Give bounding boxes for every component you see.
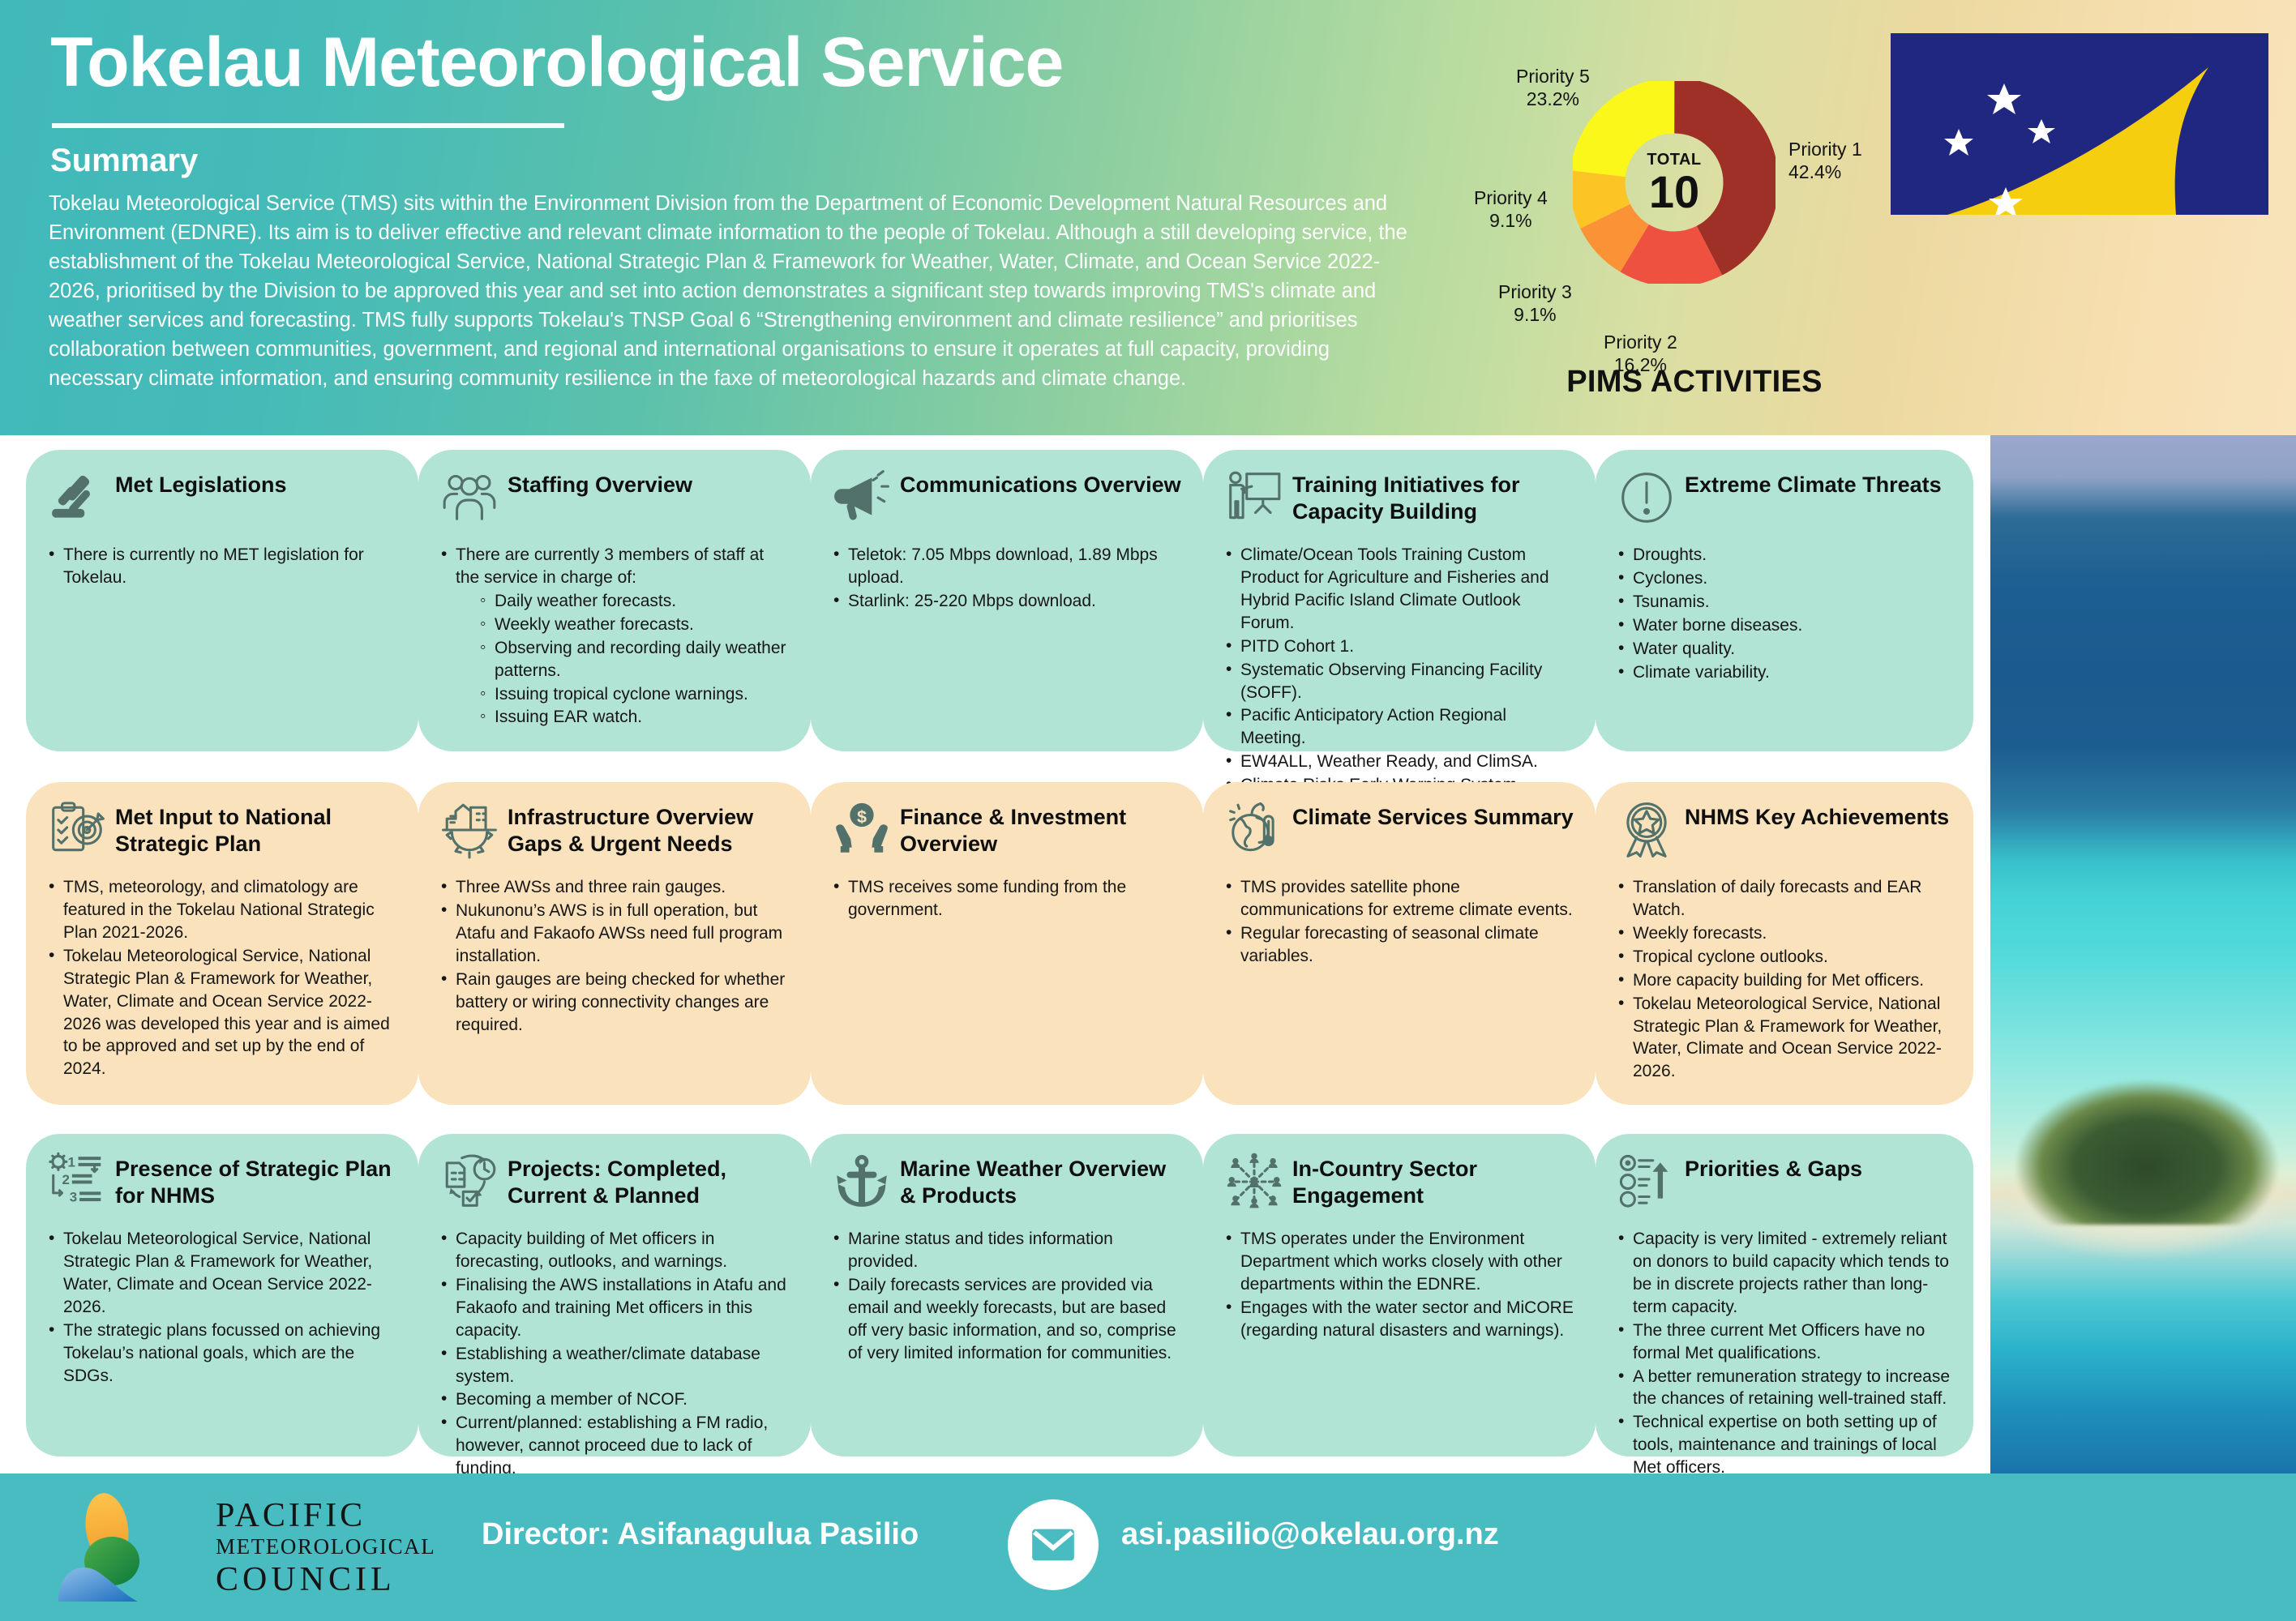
sub-bullet-item: Observing and recording daily weather pa…	[477, 637, 791, 682]
card-body: There are currently 3 members of staff a…	[438, 544, 791, 729]
network-people-icon	[1224, 1152, 1284, 1212]
donut-label-priority-5: Priority 5 23.2%	[1516, 65, 1590, 110]
bullet-item: Weekly forecasts.	[1615, 922, 1954, 945]
bullet-item: Teletok: 7.05 Mbps download, 1.89 Mbps u…	[830, 544, 1184, 589]
gavel-icon	[47, 468, 107, 528]
infographic-page: Tokelau Meteorological Service Summary T…	[0, 0, 2296, 1621]
card-title: Staffing Overview	[508, 468, 791, 498]
card-title: Marine Weather Overview & Products	[900, 1152, 1184, 1209]
donut-label-priority-4: Priority 4 9.1%	[1474, 186, 1548, 232]
bullet-item: Cyclones.	[1615, 567, 1954, 590]
card-communications-overview: Communications OverviewTeletok: 7.05 Mbp…	[811, 450, 1203, 751]
card-header: 1 2 3 Presence of Strategic Plan for NHM…	[45, 1152, 399, 1215]
bullet-item: A better remuneration strategy to increa…	[1615, 1366, 1954, 1411]
presentation-teacher-icon	[1224, 468, 1284, 528]
pmc-logo-text: PACIFIC METEOROLOGICAL COUNCIL	[216, 1498, 435, 1598]
card-header: $ Finance & Investment Overview	[830, 800, 1184, 863]
bullet-item: Three AWSs and three rain gauges.	[438, 876, 791, 899]
bullet-item: The strategic plans focussed on achievin…	[45, 1319, 399, 1388]
award-ribbon-icon	[1617, 800, 1677, 860]
card-title: Projects: Completed, Current & Planned	[508, 1152, 791, 1209]
document-cycle-icon	[439, 1152, 499, 1212]
sub-bullet-list: Daily weather forecasts.Weekly weather f…	[477, 590, 791, 729]
card-met-legislations: Met LegislationsThere is currently no ME…	[26, 450, 418, 751]
card-body: There is currently no MET legislation fo…	[45, 544, 399, 589]
title-divider	[52, 123, 564, 128]
bullet-list: There is currently no MET legislation fo…	[45, 544, 399, 589]
summary-text: Tokelau Meteorological Service (TMS) sit…	[49, 190, 1411, 394]
sub-bullet-item: Issuing EAR watch.	[477, 706, 791, 729]
summary-heading: Summary	[50, 143, 198, 179]
bullet-item: Technical expertise on both setting up o…	[1615, 1411, 1954, 1479]
bullet-item: TMS operates under the Environment Depar…	[1223, 1228, 1576, 1296]
bullet-item: Climate variability.	[1615, 661, 1954, 684]
card-title: Presence of Strategic Plan for NHMS	[115, 1152, 399, 1209]
globe-thermometer-icon	[1224, 800, 1284, 860]
svg-text:$: $	[857, 806, 867, 827]
card-title: Met Legislations	[115, 468, 399, 498]
bullet-item: Tsunamis.	[1615, 591, 1954, 614]
card-training-initiatives: Training Initiatives for Capacity Buildi…	[1203, 450, 1596, 751]
bullet-list: TMS, meteorology, and climatology are fe…	[45, 876, 399, 1080]
card-in-country-sector-engagement: In-Country Sector EngagementTMS operates…	[1203, 1134, 1596, 1456]
card-staffing-overview: Staffing OverviewThere are currently 3 m…	[418, 450, 811, 751]
card-header: Priorities & Gaps	[1615, 1152, 1954, 1215]
card-body: TMS, meteorology, and climatology are fe…	[45, 876, 399, 1080]
clipboard-target-icon	[47, 800, 107, 860]
card-body: Capacity building of Met officers in for…	[438, 1228, 791, 1480]
anchor-icon	[832, 1152, 892, 1212]
chart-title: PIMS ACTIVITIES	[1467, 365, 1921, 400]
bullet-item: Finalising the AWS installations in Ataf…	[438, 1274, 791, 1342]
card-header: Projects: Completed, Current & Planned	[438, 1152, 791, 1215]
card-body: TMS receives some funding from the gover…	[830, 876, 1184, 922]
card-title: NHMS Key Achievements	[1685, 800, 1954, 831]
card-marine-weather-overview: Marine Weather Overview & ProductsMarine…	[811, 1134, 1203, 1456]
bullet-item: Tokelau Meteorological Service, National…	[45, 1228, 399, 1319]
bullet-item: Tokelau Meteorological Service, National…	[45, 945, 399, 1081]
bullet-item: Tokelau Meteorological Service, National…	[1615, 993, 1954, 1084]
bullet-item: Pacific Anticipatory Action Regional Mee…	[1223, 704, 1576, 750]
bullet-item: Engages with the water sector and MiCORE…	[1223, 1297, 1576, 1342]
bullet-item: Capacity is very limited - extremely rel…	[1615, 1228, 1954, 1319]
bullet-list: Marine status and tides information prov…	[830, 1228, 1184, 1365]
megaphone-icon	[832, 468, 892, 528]
ocean-atoll-photo	[1990, 435, 2296, 1473]
bullet-item: Establishing a weather/climate database …	[438, 1343, 791, 1388]
card-body: Tokelau Meteorological Service, National…	[45, 1228, 399, 1387]
card-header: Extreme Climate Threats	[1615, 468, 1954, 531]
card-climate-services-summary: Climate Services SummaryTMS provides sat…	[1203, 782, 1596, 1105]
bullet-item: Nukunonu’s AWS is in full operation, but…	[438, 900, 791, 968]
bullet-item: Tropical cyclone outlooks.	[1615, 946, 1954, 969]
pmc-logo-svg	[47, 1490, 209, 1603]
card-extreme-climate-threats: Extreme Climate ThreatsDroughts.Cyclones…	[1596, 450, 1973, 751]
card-met-input-national-strategic-plan: Met Input to National Strategic PlanTMS,…	[26, 782, 418, 1105]
donut-total-value: 10	[1649, 170, 1699, 213]
card-title: Communications Overview	[900, 468, 1184, 498]
bullet-list: Droughts.Cyclones.Tsunamis.Water borne d…	[1615, 544, 1954, 684]
bullet-item: More capacity building for Met officers.	[1615, 969, 1954, 992]
bullet-item: The three current Met Officers have no f…	[1615, 1319, 1954, 1365]
bullet-list: Capacity building of Met officers in for…	[438, 1228, 791, 1480]
bullet-item: TMS provides satellite phone communicati…	[1223, 876, 1576, 922]
bullet-item: Starlink: 25-220 Mbps download.	[830, 590, 1184, 613]
bullet-item: Daily forecasts services are provided vi…	[830, 1274, 1184, 1365]
people-group-icon	[439, 468, 499, 528]
bullet-item: Water borne diseases.	[1615, 614, 1954, 637]
footer-bar: PACIFIC METEOROLOGICAL COUNCIL Director:…	[0, 1473, 2296, 1621]
card-body: Translation of daily forecasts and EAR W…	[1615, 876, 1954, 1083]
card-title: In-Country Sector Engagement	[1292, 1152, 1576, 1209]
donut-chart: TOTAL 10	[1573, 81, 1776, 284]
card-body: Droughts.Cyclones.Tsunamis.Water borne d…	[1615, 544, 1954, 684]
bullet-item: Systematic Observing Financing Facility …	[1223, 659, 1576, 704]
donut-label-priority-1: Priority 1 42.4%	[1788, 138, 1862, 183]
bullet-item: TMS, meteorology, and climatology are fe…	[45, 876, 399, 944]
page-title: Tokelau Meteorological Service	[50, 23, 1063, 103]
svg-text:3: 3	[70, 1190, 77, 1205]
buildings-gear-icon	[439, 800, 499, 860]
bullet-list: There are currently 3 members of staff a…	[438, 544, 791, 729]
bullet-item: Capacity building of Met officers in for…	[438, 1228, 791, 1273]
email-address: asi.pasilio@okelau.org.nz	[1121, 1517, 1499, 1552]
card-title: Extreme Climate Threats	[1685, 468, 1954, 498]
bullet-item: EW4ALL, Weather Ready, and ClimSA.	[1223, 751, 1576, 773]
bullet-list: Teletok: 7.05 Mbps download, 1.89 Mbps u…	[830, 544, 1184, 613]
envelope-glyph	[1028, 1520, 1078, 1570]
card-body: TMS operates under the Environment Depar…	[1223, 1228, 1576, 1342]
bullet-item: Translation of daily forecasts and EAR W…	[1615, 876, 1954, 922]
bullet-item: There is currently no MET legislation fo…	[45, 544, 399, 589]
bullet-item: Current/planned: establishing a FM radio…	[438, 1412, 791, 1480]
priority-list-arrow-icon	[1617, 1152, 1677, 1212]
donut-label-pct: 23.2%	[1527, 88, 1579, 109]
card-infrastructure-overview: Infrastructure Overview Gaps & Urgent Ne…	[418, 782, 811, 1105]
svg-text:1: 1	[67, 1155, 75, 1170]
donut-label-name: Priority 5	[1516, 66, 1590, 87]
bullet-list: TMS operates under the Environment Depar…	[1223, 1228, 1576, 1342]
card-header: Infrastructure Overview Gaps & Urgent Ne…	[438, 800, 791, 863]
bullet-item: Rain gauges are being checked for whethe…	[438, 969, 791, 1037]
bullet-item: Marine status and tides information prov…	[830, 1228, 1184, 1273]
bullet-item: Becoming a member of NCOF.	[438, 1388, 791, 1411]
card-title: Finance & Investment Overview	[900, 800, 1184, 858]
bullet-item: Regular forecasting of seasonal climate …	[1223, 922, 1576, 968]
card-header: Staffing Overview	[438, 468, 791, 531]
card-header: Climate Services Summary	[1223, 800, 1576, 863]
donut-label-pct: 9.1%	[1514, 304, 1556, 325]
card-grid: Met LegislationsThere is currently no ME…	[0, 435, 1990, 1473]
donut-center-total: TOTAL 10	[1573, 81, 1776, 284]
bullet-list: Tokelau Meteorological Service, National…	[45, 1228, 399, 1387]
card-header: NHMS Key Achievements	[1615, 800, 1954, 863]
pmc-text-meteorological: METEOROLOGICAL	[216, 1533, 435, 1561]
donut-label-name: Priority 2	[1604, 331, 1677, 353]
pmc-text-council: COUNCIL	[216, 1561, 435, 1598]
bullet-list: Climate/Ocean Tools Training Custom Prod…	[1223, 544, 1576, 819]
bullet-list: Translation of daily forecasts and EAR W…	[1615, 876, 1954, 1083]
bullet-item: Droughts.	[1615, 544, 1954, 567]
donut-label-pct: 9.1%	[1489, 210, 1531, 231]
bullet-item: There are currently 3 members of staff a…	[438, 544, 791, 729]
bullet-item: Climate/Ocean Tools Training Custom Prod…	[1223, 544, 1576, 635]
donut-label-name: Priority 1	[1788, 139, 1862, 160]
email-icon	[1008, 1499, 1099, 1590]
card-body: Three AWSs and three rain gauges.Nukunon…	[438, 876, 791, 1036]
pacific-meteorological-council-logo-icon	[47, 1490, 209, 1603]
header-banner: Tokelau Meteorological Service Summary T…	[0, 0, 2296, 435]
card-projects-completed-current-planned: Projects: Completed, Current & PlannedCa…	[418, 1134, 811, 1456]
card-body: Teletok: 7.05 Mbps download, 1.89 Mbps u…	[830, 544, 1184, 613]
card-presence-strategic-plan-nhms: 1 2 3 Presence of Strategic Plan for NHM…	[26, 1134, 418, 1456]
pmc-text-pacific: PACIFIC	[216, 1498, 435, 1533]
card-title: Met Input to National Strategic Plan	[115, 800, 399, 858]
card-header: Met Legislations	[45, 468, 399, 531]
sub-bullet-item: Daily weather forecasts.	[477, 590, 791, 613]
gear-steps-icon: 1 2 3	[47, 1152, 107, 1212]
bullet-item: PITD Cohort 1.	[1223, 635, 1576, 658]
donut-label-name: Priority 3	[1498, 281, 1572, 302]
tokelau-flag-icon	[1891, 33, 2268, 215]
sub-bullet-item: Issuing tropical cyclone warnings.	[477, 683, 791, 706]
photo-island	[2013, 1079, 2281, 1225]
card-priorities-gaps: Priorities & GapsCapacity is very limite…	[1596, 1134, 1973, 1456]
bullet-list: TMS receives some funding from the gover…	[830, 876, 1184, 922]
bullet-list: Three AWSs and three rain gauges.Nukunon…	[438, 876, 791, 1036]
bullet-item: Water quality.	[1615, 638, 1954, 661]
card-body: Climate/Ocean Tools Training Custom Prod…	[1223, 544, 1576, 819]
card-header: Communications Overview	[830, 468, 1184, 531]
card-title: Priorities & Gaps	[1685, 1152, 1954, 1183]
card-header: Training Initiatives for Capacity Buildi…	[1223, 468, 1576, 531]
donut-label-priority-3: Priority 3 9.1%	[1498, 280, 1572, 326]
bullet-list: TMS provides satellite phone communicati…	[1223, 876, 1576, 968]
card-body: Marine status and tides information prov…	[830, 1228, 1184, 1365]
bullet-item: TMS receives some funding from the gover…	[830, 876, 1184, 922]
card-finance-investment-overview: $ Finance & Investment OverviewTMS recei…	[811, 782, 1203, 1105]
hands-coin-icon: $	[832, 800, 892, 860]
card-header: Marine Weather Overview & Products	[830, 1152, 1184, 1215]
card-body: TMS provides satellite phone communicati…	[1223, 876, 1576, 968]
card-header: In-Country Sector Engagement	[1223, 1152, 1576, 1215]
svg-text:2: 2	[62, 1172, 70, 1187]
flag-svg	[1891, 33, 2268, 215]
sub-bullet-item: Weekly weather forecasts.	[477, 614, 791, 636]
donut-label-name: Priority 4	[1474, 187, 1548, 208]
exclamation-circle-icon	[1617, 468, 1677, 528]
donut-label-pct: 42.4%	[1788, 161, 1841, 182]
card-title: Infrastructure Overview Gaps & Urgent Ne…	[508, 800, 791, 858]
card-header: Met Input to National Strategic Plan	[45, 800, 399, 863]
card-nhms-key-achievements: NHMS Key AchievementsTranslation of dail…	[1596, 782, 1973, 1105]
card-title: Training Initiatives for Capacity Buildi…	[1292, 468, 1576, 525]
director-name: Director: Asifanagulua Pasilio	[482, 1517, 919, 1552]
card-title: Climate Services Summary	[1292, 800, 1576, 831]
